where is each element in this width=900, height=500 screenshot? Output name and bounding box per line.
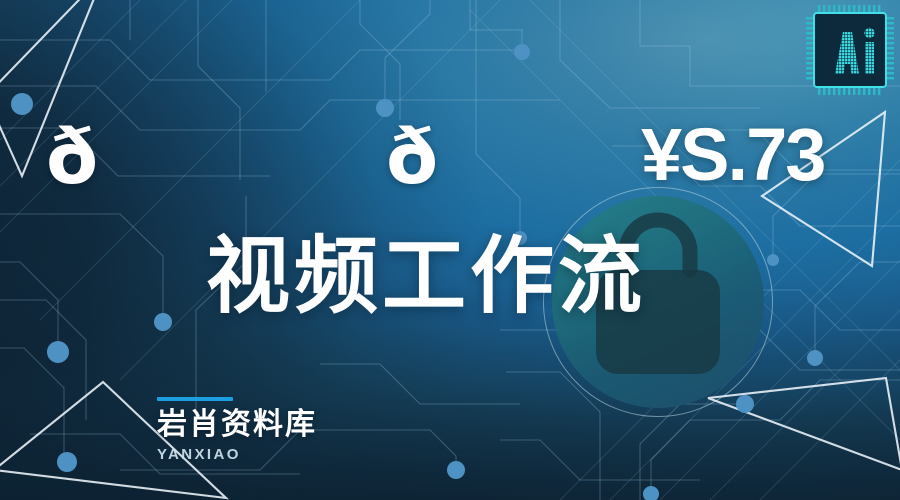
node-dot bbox=[447, 461, 465, 479]
node-dot bbox=[807, 350, 823, 366]
node-dot bbox=[154, 313, 172, 331]
node-dot bbox=[11, 93, 33, 115]
node-dot bbox=[47, 341, 69, 363]
brand-name-cn: 岩肖资料库 bbox=[157, 407, 417, 443]
poster-canvas: ð ð ¥S.73 视频工作流 岩肖资料库 YANXIAO bbox=[0, 0, 900, 500]
brand-name-en: YANXIAO bbox=[157, 446, 417, 464]
price-label: ¥S.73 bbox=[641, 112, 824, 198]
ai-chip-icon bbox=[805, 4, 895, 96]
node-dot bbox=[767, 254, 779, 266]
brand-block: 岩肖资料库 YANXIAO bbox=[157, 397, 417, 464]
node-dot bbox=[643, 486, 659, 500]
node-dot bbox=[736, 395, 754, 413]
brand-accent-bar bbox=[157, 397, 233, 401]
node-dot bbox=[57, 452, 77, 472]
page-title: 视频工作流 bbox=[206, 228, 646, 324]
fallback-glyph-middle: ð bbox=[386, 118, 438, 196]
fallback-glyph-left: ð bbox=[46, 118, 98, 196]
node-dot bbox=[514, 44, 530, 60]
